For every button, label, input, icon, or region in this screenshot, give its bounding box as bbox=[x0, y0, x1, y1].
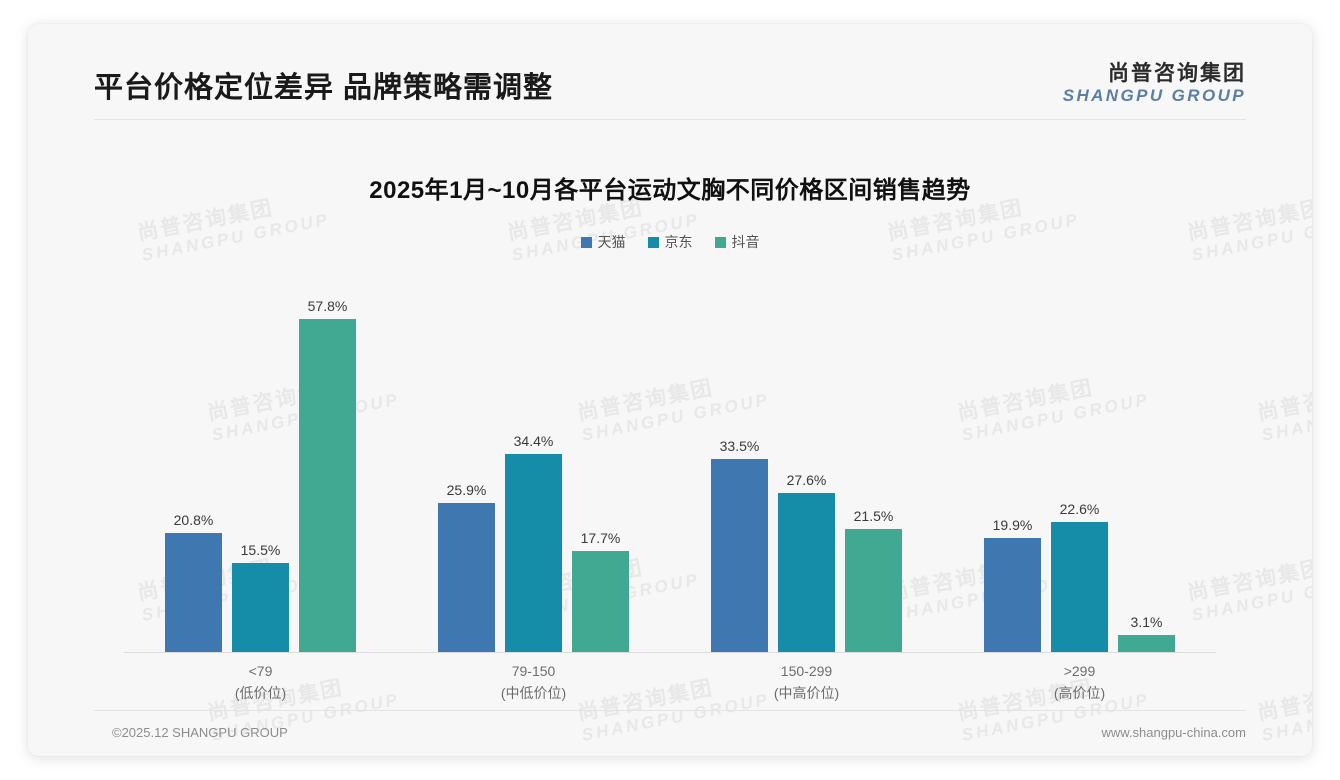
bar-京东-79-150[interactable] bbox=[505, 454, 562, 653]
bar-value-label: 22.6% bbox=[1060, 501, 1100, 517]
chart-title: 2025年1月~10月各平台运动文胸不同价格区间销售趋势 bbox=[28, 170, 1312, 205]
bar-group-<79: 20.8%15.5%57.8% bbox=[124, 278, 397, 653]
bar-京东->299[interactable] bbox=[1051, 522, 1108, 653]
x-axis-label->299: >299(高价位) bbox=[943, 661, 1216, 704]
bar-value-label: 25.9% bbox=[447, 482, 487, 498]
x-axis-label-sub: (中高价位) bbox=[670, 683, 943, 705]
page-title: 平台价格定位差异 品牌策略需调整 bbox=[94, 64, 553, 106]
slide-footer: ©2025.12 SHANGPU GROUP www.shangpu-china… bbox=[28, 710, 1312, 756]
bar-column: 22.6% bbox=[1051, 278, 1108, 653]
legend-item-京东[interactable]: 京东 bbox=[648, 232, 693, 252]
bar-value-label: 20.8% bbox=[174, 512, 214, 528]
bar-value-label: 57.8% bbox=[308, 298, 348, 314]
bar-抖音-150-299[interactable] bbox=[845, 529, 902, 653]
bar-value-label: 27.6% bbox=[787, 472, 827, 488]
legend-label: 天猫 bbox=[598, 232, 626, 252]
x-axis-label-main: <79 bbox=[249, 663, 273, 679]
slide-header: 平台价格定位差异 品牌策略需调整 尚普咨询集团 SHANGPU GROUP bbox=[28, 24, 1312, 120]
brand-logo: 尚普咨询集团 SHANGPU GROUP bbox=[1063, 62, 1246, 107]
legend-swatch-icon bbox=[715, 237, 726, 248]
logo-chinese-text: 尚普咨询集团 bbox=[1063, 62, 1246, 86]
legend-label: 抖音 bbox=[732, 232, 760, 252]
bar-value-label: 19.9% bbox=[993, 517, 1033, 533]
footer-website[interactable]: www.shangpu-china.com bbox=[1101, 725, 1246, 740]
legend-item-天猫[interactable]: 天猫 bbox=[581, 232, 626, 252]
bar-天猫->299[interactable] bbox=[984, 538, 1041, 653]
bar-column: 25.9% bbox=[438, 278, 495, 653]
logo-english-text: SHANGPU GROUP bbox=[1063, 86, 1246, 106]
bar-value-label: 17.7% bbox=[581, 530, 621, 546]
x-axis-label-sub: (高价位) bbox=[943, 683, 1216, 705]
x-axis-label-sub: (低价位) bbox=[124, 683, 397, 705]
x-axis-label-sub: (中低价位) bbox=[397, 683, 670, 705]
bar-value-label: 34.4% bbox=[514, 433, 554, 449]
bar-天猫-79-150[interactable] bbox=[438, 503, 495, 653]
chart-container: 2025年1月~10月各平台运动文胸不同价格区间销售趋势 天猫京东抖音 20.8… bbox=[28, 120, 1312, 710]
bar-column: 17.7% bbox=[572, 278, 629, 653]
bar-天猫-150-299[interactable] bbox=[711, 459, 768, 653]
bar-group->299: 19.9%22.6%3.1% bbox=[943, 278, 1216, 653]
bar-京东-150-299[interactable] bbox=[778, 493, 835, 653]
bar-column: 34.4% bbox=[505, 278, 562, 653]
bar-京东-<79[interactable] bbox=[232, 563, 289, 653]
x-axis-labels: <79(低价位)79-150(中低价位)150-299(中高价位)>299(高价… bbox=[124, 661, 1216, 704]
bar-column: 21.5% bbox=[845, 278, 902, 653]
x-axis-label-150-299: 150-299(中高价位) bbox=[670, 661, 943, 704]
x-axis-label-main: 79-150 bbox=[512, 663, 556, 679]
bar-group-79-150: 25.9%34.4%17.7% bbox=[397, 278, 670, 653]
bar-value-label: 33.5% bbox=[720, 438, 760, 454]
bar-column: 33.5% bbox=[711, 278, 768, 653]
bar-抖音-79-150[interactable] bbox=[572, 551, 629, 653]
bar-groups: 20.8%15.5%57.8%25.9%34.4%17.7%33.5%27.6%… bbox=[124, 278, 1216, 653]
x-axis-label-main: 150-299 bbox=[781, 663, 832, 679]
bar-value-label: 3.1% bbox=[1131, 614, 1163, 630]
slide-card: 尚普咨询集团SHANGPU GROUP尚普咨询集团SHANGPU GROUP尚普… bbox=[28, 24, 1312, 756]
legend-swatch-icon bbox=[648, 237, 659, 248]
footer-copyright: ©2025.12 SHANGPU GROUP bbox=[112, 725, 288, 740]
bar-抖音-<79[interactable] bbox=[299, 319, 356, 653]
bar-value-label: 15.5% bbox=[241, 542, 281, 558]
bar-group-150-299: 33.5%27.6%21.5% bbox=[670, 278, 943, 653]
bar-column: 15.5% bbox=[232, 278, 289, 653]
bar-column: 20.8% bbox=[165, 278, 222, 653]
bar-抖音->299[interactable] bbox=[1118, 635, 1175, 653]
bar-column: 3.1% bbox=[1118, 278, 1175, 653]
bar-column: 57.8% bbox=[299, 278, 356, 653]
header-divider bbox=[94, 119, 1246, 120]
bar-column: 27.6% bbox=[778, 278, 835, 653]
x-axis-label-79-150: 79-150(中低价位) bbox=[397, 661, 670, 704]
x-axis-line bbox=[124, 652, 1216, 653]
chart-plot-area: 20.8%15.5%57.8%25.9%34.4%17.7%33.5%27.6%… bbox=[124, 278, 1216, 653]
x-axis-label-main: >299 bbox=[1064, 663, 1096, 679]
legend-swatch-icon bbox=[581, 237, 592, 248]
x-axis-label-<79: <79(低价位) bbox=[124, 661, 397, 704]
legend-label: 京东 bbox=[665, 232, 693, 252]
chart-legend: 天猫京东抖音 bbox=[28, 232, 1312, 252]
bar-天猫-<79[interactable] bbox=[165, 533, 222, 653]
bar-value-label: 21.5% bbox=[854, 508, 894, 524]
footer-divider bbox=[94, 710, 1246, 711]
bar-column: 19.9% bbox=[984, 278, 1041, 653]
legend-item-抖音[interactable]: 抖音 bbox=[715, 232, 760, 252]
